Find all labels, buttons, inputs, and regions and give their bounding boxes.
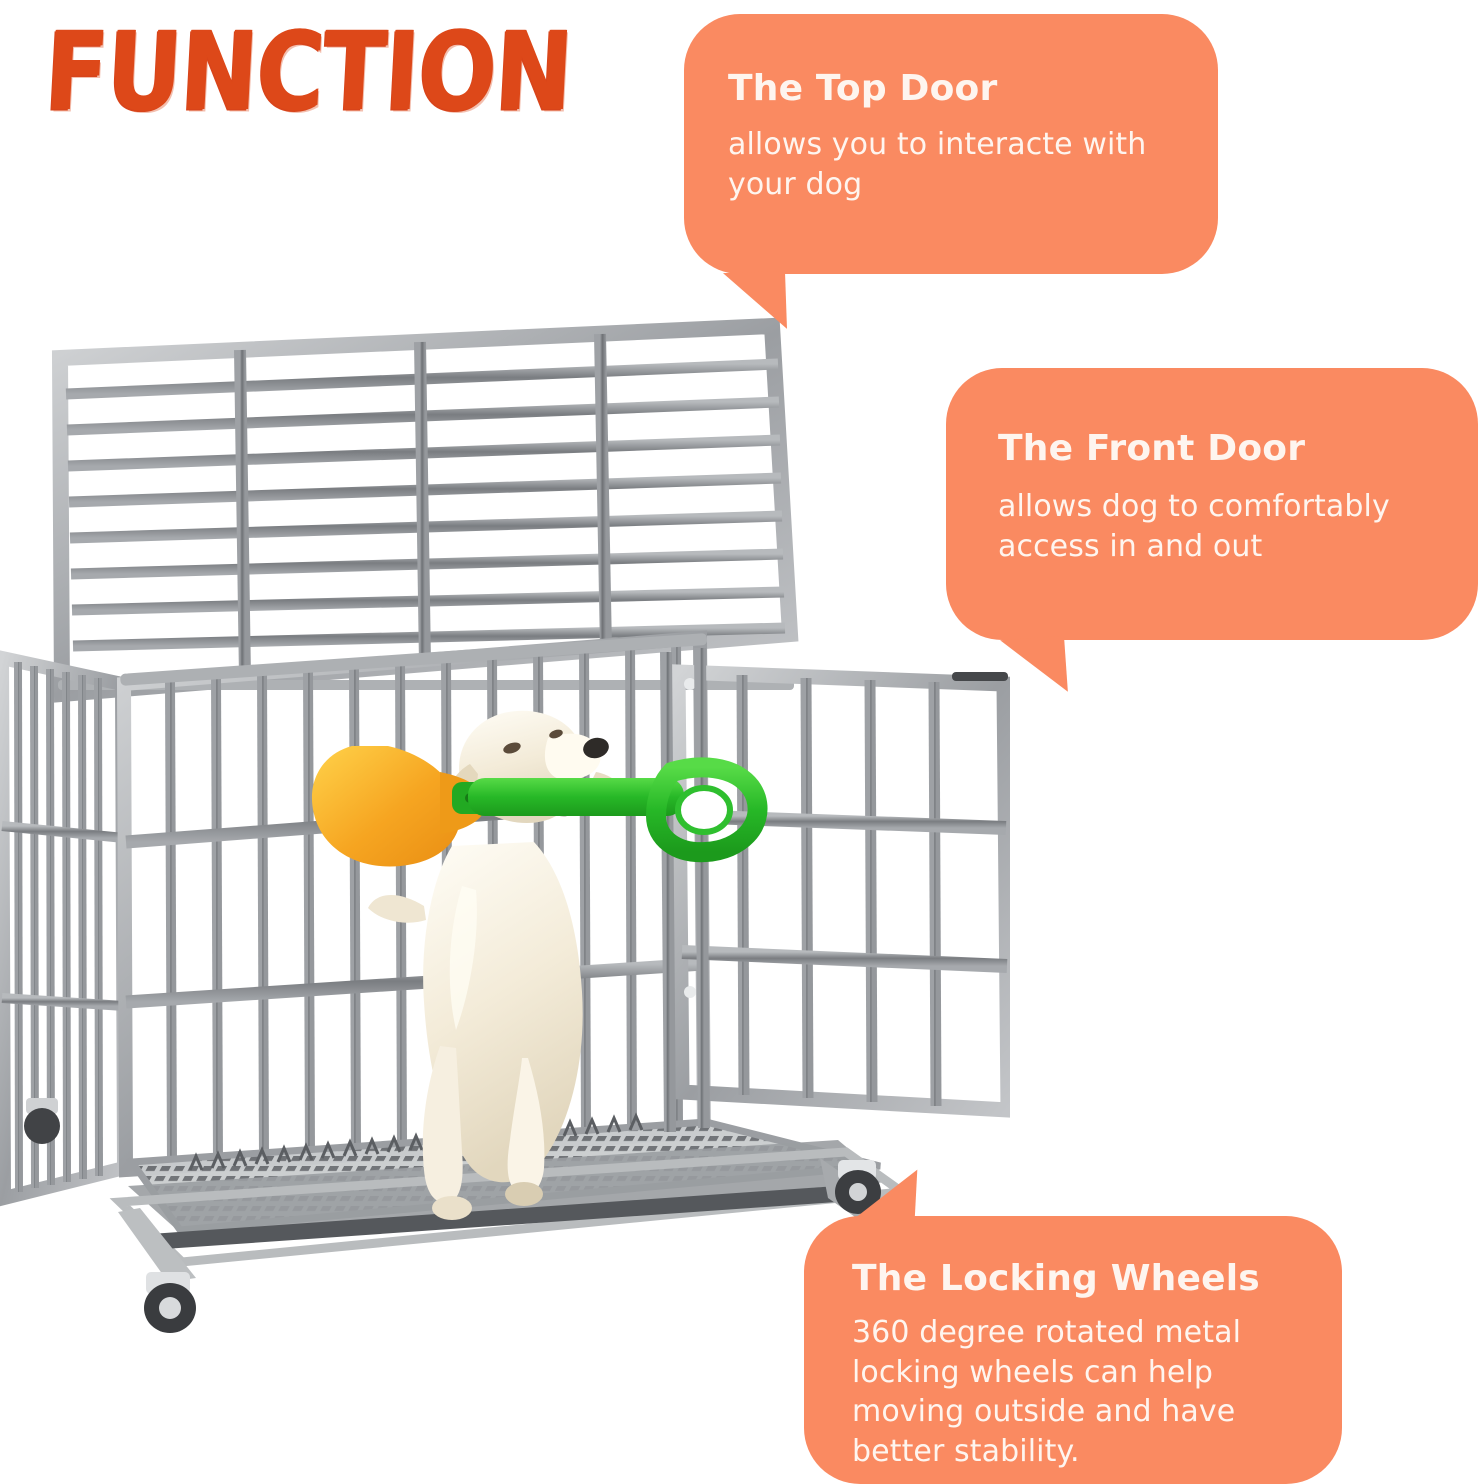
callout-front-door-title: The Front Door <box>998 426 1452 471</box>
front-door-panel <box>678 672 1008 1110</box>
callout-locking-wheels-title: The Locking Wheels <box>852 1256 1316 1301</box>
callout-locking-wheels[interactable]: The Locking Wheels 360 degree rotated me… <box>804 1216 1342 1484</box>
callout-top-door-title: The Top Door <box>728 66 1188 111</box>
callout-front-door-tail <box>1000 636 1068 696</box>
side-bar-panel <box>2 658 124 1198</box>
callout-locking-wheels-tail <box>855 1166 918 1221</box>
callout-top-door-body: allows you to interacte with your dog <box>728 125 1188 204</box>
callout-locking-wheels-body: 360 degree rotated metal locking wheels … <box>852 1313 1316 1471</box>
callout-top-door[interactable]: The Top Door allows you to interacte wit… <box>684 14 1218 274</box>
page-title: FUNCTION <box>42 16 574 130</box>
callout-front-door[interactable]: The Front Door allows dog to comfortably… <box>946 368 1478 640</box>
callout-top-door-tail <box>723 271 787 331</box>
callout-front-door-body: allows dog to comfortably access in and … <box>998 487 1452 566</box>
